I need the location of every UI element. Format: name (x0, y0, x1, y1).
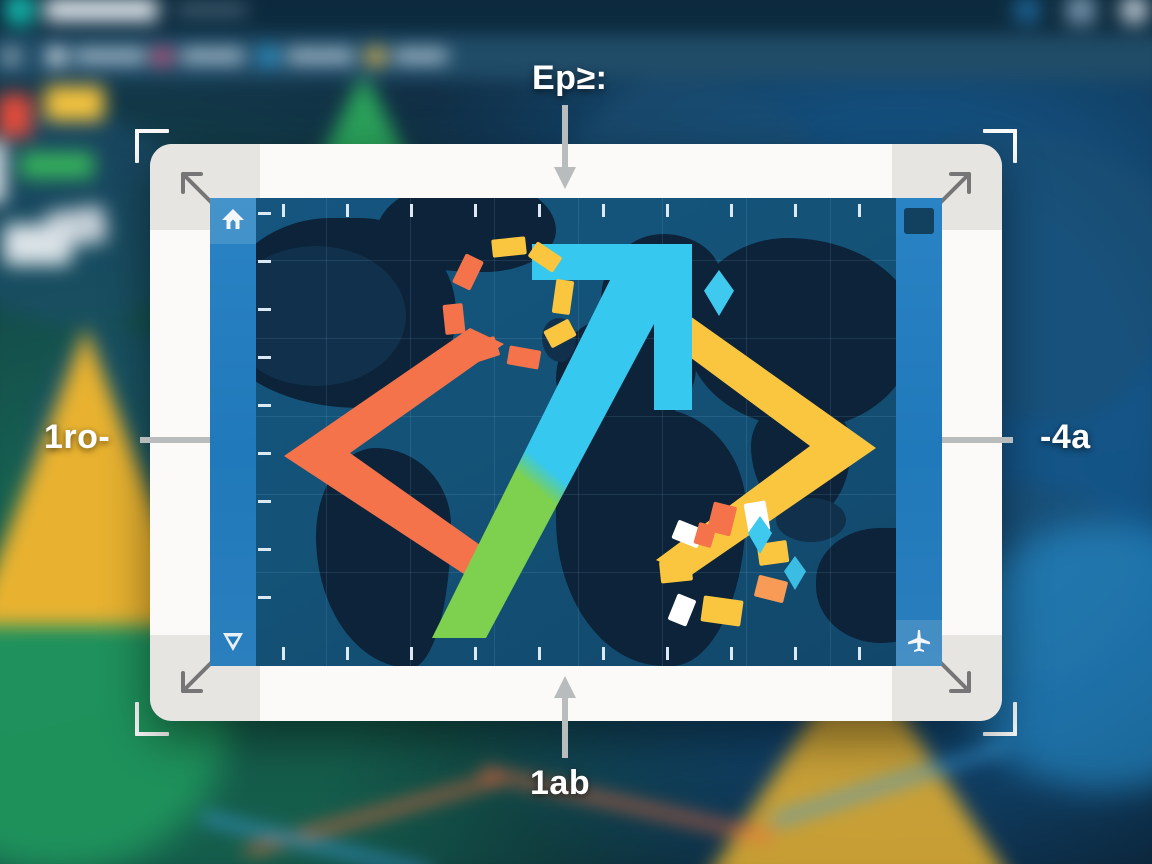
donut-segment (754, 575, 788, 604)
ruler-tick-bottom (730, 647, 733, 660)
tab-icon-3 (259, 47, 279, 67)
ruler-tick-top (346, 204, 349, 217)
ruler-tick-top (730, 204, 733, 217)
header-rounded-square-icon[interactable] (1066, 0, 1095, 24)
ruler-tick-bottom (538, 647, 541, 660)
ruler-tick-top (602, 204, 605, 217)
right-toolbar-rail (896, 198, 942, 666)
map-viewport (210, 198, 942, 666)
callout-label-right: -4a (1040, 418, 1091, 457)
arrow-up-icon (552, 676, 578, 758)
ruler-tick-left (258, 260, 271, 263)
background-card-red (0, 94, 32, 137)
app-logo-icon (5, 0, 34, 26)
home-button[interactable] (210, 198, 256, 244)
donut-segment (507, 345, 542, 369)
donut-segment (543, 319, 577, 349)
ruler-tick-top (538, 204, 541, 217)
ruler-tick-left (258, 452, 271, 455)
callout-label-top: Ep≥: (532, 59, 607, 98)
tab-label-4 (394, 50, 448, 62)
tab-icon-4 (366, 47, 386, 67)
app-header-bar (0, 0, 1152, 34)
callout-label-bottom: 1ab (530, 764, 590, 803)
segmented-donut-bottom (652, 498, 802, 648)
ruler-tick-bottom (346, 647, 349, 660)
ruler-tick-left (258, 212, 271, 215)
preview-card (150, 144, 1002, 721)
ruler-tick-bottom (282, 647, 285, 660)
tab-icon-2 (153, 47, 173, 67)
tab-label-1 (74, 50, 146, 62)
app-wordmark (45, 0, 158, 21)
ruler-tick-top (410, 204, 413, 217)
ruler-tick-bottom (474, 647, 477, 660)
tab-item-0[interactable] (1, 45, 28, 70)
tab-icon-1 (47, 47, 67, 67)
ruler-tick-left (258, 596, 271, 599)
ruler-tick-left (258, 500, 271, 503)
ruler-tick-top (666, 204, 669, 217)
callout-label-left: 1ro- (44, 418, 110, 457)
tab-icon-0 (1, 47, 21, 67)
donut-segment (491, 236, 527, 257)
donut-segment (552, 279, 575, 315)
tab-item-1[interactable] (47, 45, 171, 70)
ruler-tick-bottom (666, 647, 669, 660)
app-subtitle (176, 5, 246, 15)
tab-label-3 (287, 50, 355, 62)
flight-button[interactable] (896, 620, 942, 666)
background-card-white-3 (0, 142, 5, 204)
tab-label-2 (180, 50, 244, 62)
donut-segment (466, 336, 501, 364)
ruler-tick-top (858, 204, 861, 217)
ruler-tick-bottom (602, 647, 605, 660)
ruler-tick-left (258, 548, 271, 551)
arrow-down-icon (552, 105, 578, 190)
background-card-yellow (45, 86, 105, 121)
donut-segment (667, 593, 696, 626)
airplane-icon (906, 628, 932, 659)
home-icon (220, 206, 246, 237)
donut-segment (442, 303, 465, 335)
tab-item-4[interactable] (366, 45, 479, 70)
ruler-tick-top (474, 204, 477, 217)
stop-square-icon[interactable] (904, 208, 934, 234)
ruler-tick-bottom (410, 647, 413, 660)
donut-segment (528, 241, 563, 273)
segmented-donut-top (434, 236, 594, 396)
background-card-green (20, 152, 94, 179)
left-toolbar-rail (210, 198, 256, 666)
world-map (256, 198, 896, 666)
ruler-tick-left (258, 356, 271, 359)
donut-segment (700, 595, 743, 626)
donut-segment (452, 253, 484, 291)
ruler-tick-left (258, 308, 271, 311)
chevron-down-badge-icon (220, 628, 246, 659)
ruler-tick-left (258, 404, 271, 407)
ruler-tick-bottom (858, 647, 861, 660)
donut-segment (659, 558, 693, 583)
ruler-tick-top (282, 204, 285, 217)
collapse-button[interactable] (210, 620, 256, 666)
ruler-tick-bottom (794, 647, 797, 660)
ruler-tick-top (794, 204, 797, 217)
tab-item-2[interactable] (153, 45, 277, 70)
